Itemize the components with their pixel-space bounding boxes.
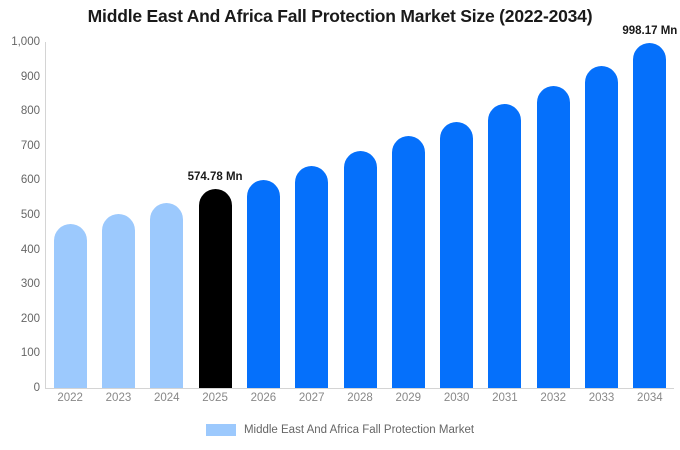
x-axis-tick-label: 2023 (106, 392, 132, 404)
bar-slot (537, 42, 570, 388)
y-axis-tick-labels: 1,0009008007006005004003002001000 (0, 42, 40, 388)
y-axis-tick-label: 600 (0, 174, 40, 186)
bar-slot (440, 42, 473, 388)
bar-2027[interactable] (295, 166, 328, 388)
x-axis-tick-label: 2033 (589, 392, 615, 404)
bar-2030[interactable] (440, 122, 473, 388)
x-axis-tick-label: 2034 (637, 392, 663, 404)
y-axis-tick-label: 800 (0, 105, 40, 117)
bar-slot (102, 42, 135, 388)
x-axis-tick-label: 2030 (444, 392, 470, 404)
bar-2022[interactable] (54, 224, 87, 388)
chart-legend: Middle East And Africa Fall Protection M… (0, 424, 680, 436)
legend-label: Middle East And Africa Fall Protection M… (244, 424, 474, 436)
bar-slot (54, 42, 87, 388)
y-axis-tick-label: 200 (0, 313, 40, 325)
bar-2032[interactable] (537, 86, 570, 388)
bar-slot (295, 42, 328, 388)
x-axis-tick-label: 2031 (492, 392, 518, 404)
bar-value-label-2034: 998.17 Mn (622, 25, 677, 37)
y-axis-tick-label: 1,000 (0, 36, 40, 48)
bar-slot (199, 42, 232, 388)
bar-chart: Middle East And Africa Fall Protection M… (0, 0, 680, 450)
y-axis-tick-label: 100 (0, 347, 40, 359)
bar-2029[interactable] (392, 136, 425, 388)
chart-title: Middle East And Africa Fall Protection M… (0, 6, 680, 27)
legend-swatch (206, 424, 236, 436)
bar-2034[interactable] (633, 43, 666, 388)
y-axis-tick-label: 300 (0, 278, 40, 290)
x-axis-line (45, 388, 674, 389)
bar-slot (633, 42, 666, 388)
bar-2033[interactable] (585, 66, 618, 388)
x-axis-tick-label: 2032 (540, 392, 566, 404)
bar-2031[interactable] (488, 104, 521, 388)
x-axis-tick-label: 2029 (396, 392, 422, 404)
bar-slot (150, 42, 183, 388)
x-axis-tick-label: 2026 (251, 392, 277, 404)
bar-slot (344, 42, 377, 388)
x-axis-tick-label: 2024 (154, 392, 180, 404)
bar-slot (247, 42, 280, 388)
bar-slot (585, 42, 618, 388)
bar-2024[interactable] (150, 203, 183, 388)
x-axis-tick-label: 2025 (202, 392, 228, 404)
bar-2026[interactable] (247, 180, 280, 388)
y-axis-tick-label: 900 (0, 71, 40, 83)
y-axis-tick-label: 0 (0, 382, 40, 394)
bar-value-label-2025: 574.78 Mn (188, 171, 243, 183)
y-axis-tick-label: 500 (0, 209, 40, 221)
bar-2023[interactable] (102, 214, 135, 388)
x-axis-tick-label: 2022 (57, 392, 83, 404)
bar-2025[interactable] (199, 189, 232, 388)
bar-slot (392, 42, 425, 388)
bar-slot (488, 42, 521, 388)
x-axis-tick-label: 2028 (347, 392, 373, 404)
plot-area: 574.78 Mn998.17 Mn (46, 42, 674, 388)
x-axis-tick-label: 2027 (299, 392, 325, 404)
bar-2028[interactable] (344, 151, 377, 388)
x-axis-tick-labels: 2022202320242025202620272028202920302031… (46, 392, 674, 412)
y-axis-tick-label: 700 (0, 140, 40, 152)
y-axis-tick-label: 400 (0, 244, 40, 256)
